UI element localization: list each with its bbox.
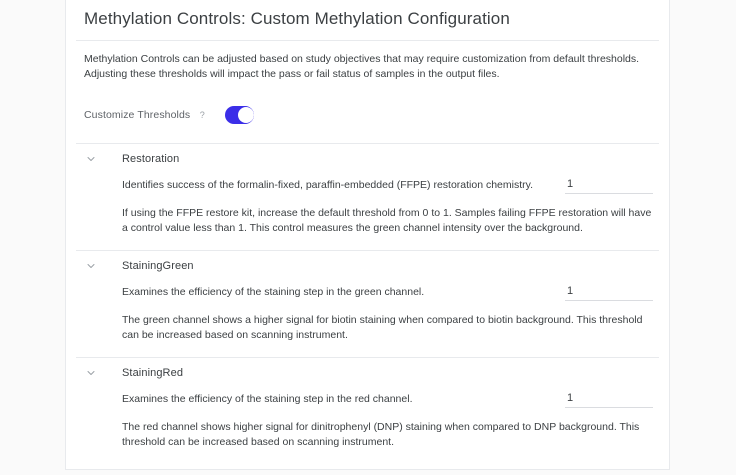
section-title: Restoration	[122, 153, 179, 165]
customize-thresholds-row: Customize Thresholds ?	[84, 103, 659, 127]
section-detail: If using the FFPE restore kit, increase …	[122, 206, 659, 236]
section-title: StainingRed	[122, 367, 183, 379]
section-restoration: Restoration Identifies success of the fo…	[76, 144, 659, 244]
help-icon[interactable]: ?	[196, 109, 208, 121]
section-summary: Identifies success of the formalin-fixed…	[122, 174, 533, 193]
threshold-field	[565, 281, 653, 301]
section-detail: The green channel shows a higher signal …	[122, 313, 659, 343]
section-staining-red: StainingRed Examines the efficiency of t…	[76, 358, 659, 458]
summary-row: Examines the efficiency of the staining …	[122, 388, 659, 408]
section-detail: The red channel shows higher signal for …	[122, 420, 659, 450]
section-body-staining-green: Examines the efficiency of the staining …	[122, 281, 659, 351]
intro-paragraph: Methylation Controls can be adjusted bas…	[84, 52, 644, 82]
section-header-restoration[interactable]: Restoration	[84, 144, 659, 174]
page-background: Methylation Controls: Custom Methylation…	[0, 0, 736, 475]
toggle-knob	[238, 107, 254, 123]
threshold-input-restoration[interactable]	[565, 176, 653, 194]
section-body-restoration: Identifies success of the formalin-fixed…	[122, 174, 659, 244]
threshold-field	[565, 174, 653, 194]
title-divider	[76, 40, 659, 41]
section-body-staining-red: Examines the efficiency of the staining …	[122, 388, 659, 458]
settings-card: Methylation Controls: Custom Methylation…	[65, 0, 670, 470]
customize-thresholds-toggle[interactable]	[225, 106, 254, 124]
threshold-input-staining-green[interactable]	[565, 283, 653, 301]
chevron-down-icon	[84, 366, 98, 380]
chevron-down-icon	[84, 259, 98, 273]
section-header-staining-green[interactable]: StainingGreen	[84, 251, 659, 281]
chevron-down-icon	[84, 152, 98, 166]
section-summary: Examines the efficiency of the staining …	[122, 388, 412, 407]
page-title: Methylation Controls: Custom Methylation…	[84, 7, 659, 31]
section-summary: Examines the efficiency of the staining …	[122, 281, 424, 300]
threshold-input-staining-red[interactable]	[565, 390, 653, 408]
customize-thresholds-label: Customize Thresholds	[84, 109, 190, 121]
threshold-field	[565, 388, 653, 408]
summary-row: Identifies success of the formalin-fixed…	[122, 174, 659, 194]
section-staining-green: StainingGreen Examines the efficiency of…	[76, 251, 659, 351]
section-title: StainingGreen	[122, 260, 194, 272]
section-header-staining-red[interactable]: StainingRed	[84, 358, 659, 388]
summary-row: Examines the efficiency of the staining …	[122, 281, 659, 301]
